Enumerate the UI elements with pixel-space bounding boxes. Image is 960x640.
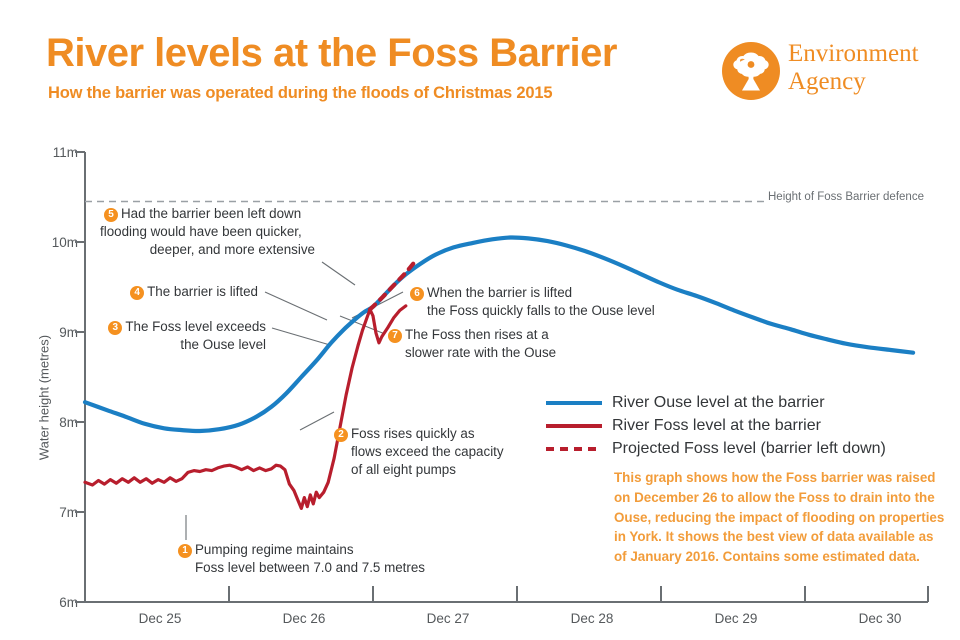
annotation-7-text-1: The Foss then rises at a	[405, 327, 549, 342]
legend-label-projected: Projected Foss level (barrier left down)	[612, 440, 886, 458]
annotation-2-text-2: flows exceed the capacity	[334, 443, 544, 461]
annotation-7-text-2: slower rate with the Ouse	[388, 344, 618, 362]
annotation-4-text-1: The barrier is lifted	[147, 284, 258, 299]
annotation-6-text-1: When the barrier is lifted	[427, 285, 572, 300]
legend-item-foss[interactable]: River Foss level at the barrier	[546, 414, 886, 437]
annotation-1-text-2: Foss level between 7.0 and 7.5 metres	[178, 559, 478, 577]
leader-line-4	[265, 292, 327, 320]
annotation-5-text-2: flooding would have been quicker,	[60, 223, 315, 241]
annotation-7: 7The Foss then rises at a slower rate wi…	[388, 326, 618, 362]
legend-swatch-solid-blue-icon	[546, 391, 602, 414]
annotation-4-line-1: 4The barrier is lifted	[76, 283, 258, 301]
legend-label-ouse: River Ouse level at the barrier	[612, 394, 825, 412]
legend-swatch-solid-red-icon	[546, 414, 602, 437]
annotation-6: 6When the barrier is lifted the Foss qui…	[410, 284, 700, 320]
chart-caption: This graph shows how the Foss barrier wa…	[614, 468, 948, 567]
annotation-leader-lines	[186, 262, 403, 540]
annotation-badge-2: 2	[334, 428, 348, 442]
annotation-badge-1: 1	[178, 544, 192, 558]
annotation-2-text-3: of all eight pumps	[334, 461, 544, 479]
leader-line-3	[272, 328, 330, 345]
annotation-4: 4The barrier is lifted	[76, 283, 258, 301]
annotation-6-line-1: 6When the barrier is lifted	[410, 284, 700, 302]
annotation-badge-7: 7	[388, 329, 402, 343]
annotation-3-text-2: the Ouse level	[76, 336, 266, 354]
annotation-1: 1Pumping regime maintains Foss level bet…	[178, 541, 478, 577]
annotation-5-line-1: 5Had the barrier been left down	[60, 205, 315, 223]
annotation-2-line-1: 2Foss rises quickly as	[334, 425, 544, 443]
annotation-badge-3: 3	[108, 321, 122, 335]
chart-area: 11m 10m 9m 8m 7m 6m Water height (metres…	[0, 0, 960, 640]
annotation-5-text-3: deeper, and more extensive	[60, 241, 315, 259]
annotation-7-line-1: 7The Foss then rises at a	[388, 326, 618, 344]
annotation-1-text-1: Pumping regime maintains	[195, 542, 354, 557]
chart-legend: River Ouse level at the barrier River Fo…	[546, 391, 886, 460]
infographic-root: River levels at the Foss Barrier How the…	[0, 0, 960, 640]
legend-item-ouse[interactable]: River Ouse level at the barrier	[546, 391, 886, 414]
leader-line-2	[300, 412, 334, 430]
annotation-2-text-1: Foss rises quickly as	[351, 426, 475, 441]
legend-swatch-dashed-red-icon	[546, 437, 602, 460]
legend-label-foss: River Foss level at the barrier	[612, 417, 821, 435]
annotation-5: 5Had the barrier been left down flooding…	[60, 205, 315, 258]
annotation-6-text-2: the Foss quickly falls to the Ouse level	[410, 302, 700, 320]
annotation-3-text-1: The Foss level exceeds	[125, 319, 266, 334]
legend-item-projected[interactable]: Projected Foss level (barrier left down)	[546, 437, 886, 460]
annotation-3: 3The Foss level exceeds the Ouse level	[76, 318, 266, 354]
annotation-3-line-1: 3The Foss level exceeds	[76, 318, 266, 336]
annotation-5-text-1: Had the barrier been left down	[121, 206, 301, 221]
leader-line-5	[322, 262, 355, 285]
annotation-badge-4: 4	[130, 286, 144, 300]
annotation-2: 2Foss rises quickly as flows exceed the …	[334, 425, 544, 478]
annotation-badge-5: 5	[104, 208, 118, 222]
annotation-badge-6: 6	[410, 287, 424, 301]
annotation-1-line-1: 1Pumping regime maintains	[178, 541, 478, 559]
